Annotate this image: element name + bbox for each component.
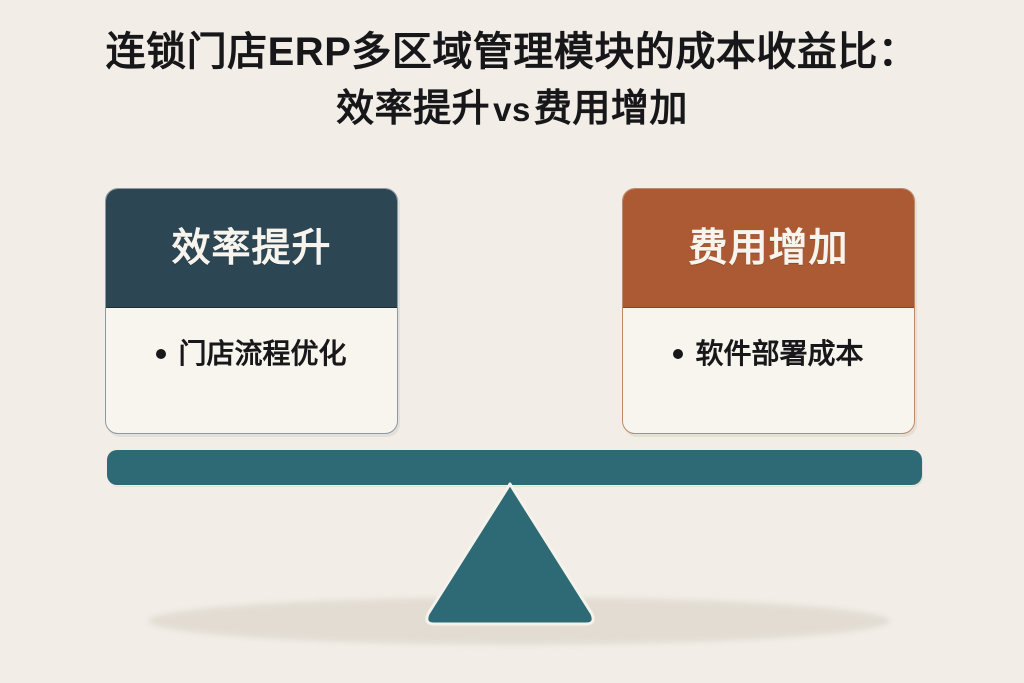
page-title: 连锁门店ERP多区域管理模块的成本收益比： 效率提升vs费用增加 xyxy=(0,24,1024,138)
page-title-vs: vs xyxy=(490,91,534,128)
list-item-label: 软件部署成本 xyxy=(695,337,863,371)
fulcrum-triangle-icon xyxy=(424,482,596,626)
bullet-dot-icon xyxy=(673,349,683,359)
page-title-line-2: 效率提升vs费用增加 xyxy=(0,81,1024,138)
card-efficiency-gain-bullet-list: 门店流程优化 xyxy=(120,308,383,371)
page-title-line-1: 连锁门店ERP多区域管理模块的成本收益比： xyxy=(0,24,1024,81)
card-cost-increase-bullet-list: 软件部署成本 xyxy=(637,308,900,371)
card-efficiency-gain-body: 门店流程优化 xyxy=(106,308,397,433)
list-item: 软件部署成本 xyxy=(637,337,900,371)
card-cost-increase: 费用增加 软件部署成本 xyxy=(622,188,915,434)
card-efficiency-gain-title: 效率提升 xyxy=(171,229,331,268)
card-efficiency-gain: 效率提升 门店流程优化 xyxy=(105,188,398,434)
balance-beam-icon xyxy=(107,450,922,485)
list-item: 门店流程优化 xyxy=(120,337,383,371)
infographic-canvas: 连锁门店ERP多区域管理模块的成本收益比： 效率提升vs费用增加 效率提升 门店… xyxy=(0,0,1024,683)
card-cost-increase-title: 费用增加 xyxy=(688,229,848,268)
bullet-dot-icon xyxy=(156,349,166,359)
page-title-line-2-benefit: 效率提升 xyxy=(336,88,490,130)
card-efficiency-gain-header: 效率提升 xyxy=(106,189,397,308)
card-cost-increase-header: 费用增加 xyxy=(623,189,914,308)
list-item-label: 门店流程优化 xyxy=(178,337,346,371)
card-cost-increase-body: 软件部署成本 xyxy=(623,308,914,433)
page-title-line-2-cost: 费用增加 xyxy=(534,88,688,130)
